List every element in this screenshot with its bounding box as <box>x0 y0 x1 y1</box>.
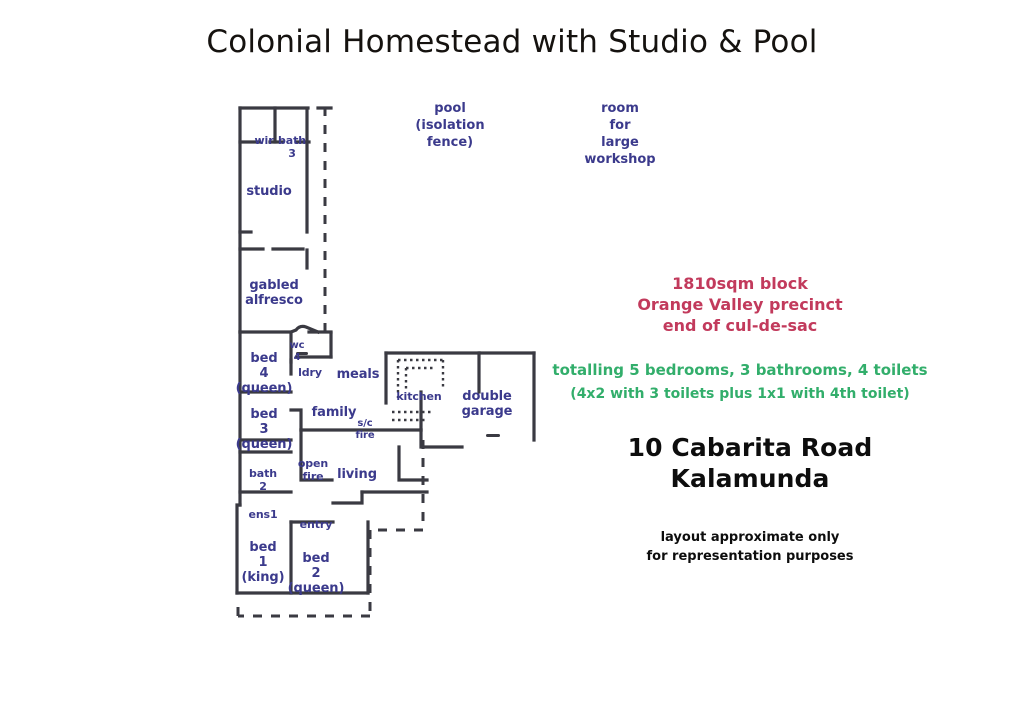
annotation-disclaimer: layout approximate only for representati… <box>540 528 960 566</box>
annotation-pool: pool (isolation fence) <box>400 100 500 151</box>
wall-segment <box>421 430 462 447</box>
room-label-sc-fire: s/c fire <box>315 418 415 442</box>
room-label-bath3: bath 3 <box>242 134 342 160</box>
room-label-bath2: bath 2 <box>213 467 313 493</box>
wall-segment <box>333 492 362 503</box>
annotation-totals-breakdown: (4x2 with 3 toilets plus 1x1 with 4th to… <box>520 385 960 404</box>
room-label-wc4: wc 4 <box>247 340 347 364</box>
garage-door-mark <box>486 434 500 437</box>
annotation-workshop: room for large workshop <box>560 100 680 168</box>
room-label-gabled-alfresco: gabled alfresco <box>224 278 324 308</box>
annotation-block-details: 1810sqm block Orange Valley precinct end… <box>540 273 940 336</box>
annotation-address: 10 Cabarita Road Kalamunda <box>540 432 960 494</box>
floorplan-page: Colonial Homestead with Studio & Pool wi… <box>0 0 1024 724</box>
annotation-totals: totalling 5 bedrooms, 3 bathrooms, 4 toi… <box>520 360 960 380</box>
room-label-entry: entry <box>266 518 366 531</box>
room-label-bed3: bed 3 (queen) <box>214 407 314 452</box>
room-label-meals: meals <box>308 367 408 382</box>
room-label-living: living <box>307 467 407 482</box>
room-label-bed2: bed 2 (queen) <box>266 551 366 596</box>
room-label-studio: studio <box>219 184 319 199</box>
